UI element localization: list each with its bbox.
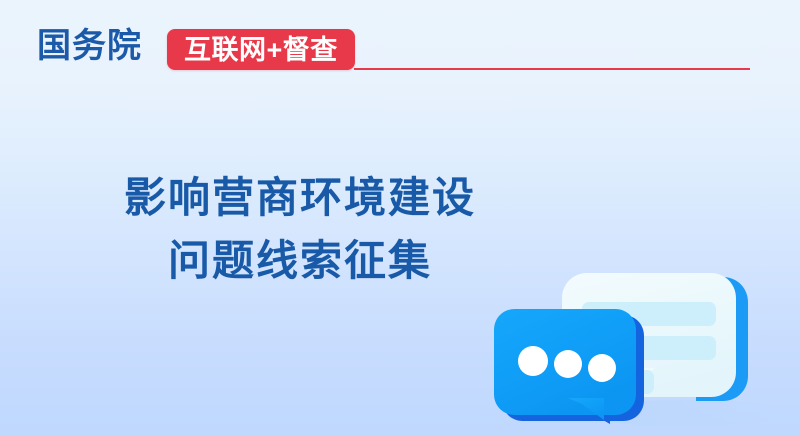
chat-bubbles-illustration [480,208,800,436]
program-badge: 互联网+督查 [167,29,355,70]
organization-name: 国务院 [37,26,142,66]
front-bubble-dot-2 [554,350,582,378]
front-bubble-dot-1 [518,346,548,376]
banner-header: 国务院 互联网+督查 [0,0,800,92]
header-divider-rule [354,68,750,70]
front-bubble-dot-3 [588,354,616,382]
front-chat-bubble [494,309,644,424]
campaign-banner: 国务院 互联网+督查 影响营商环境建设 问题线索征集 [0,0,800,436]
program-badge-label: 互联网+督查 [184,35,338,65]
chat-bubbles-icon [480,208,800,436]
